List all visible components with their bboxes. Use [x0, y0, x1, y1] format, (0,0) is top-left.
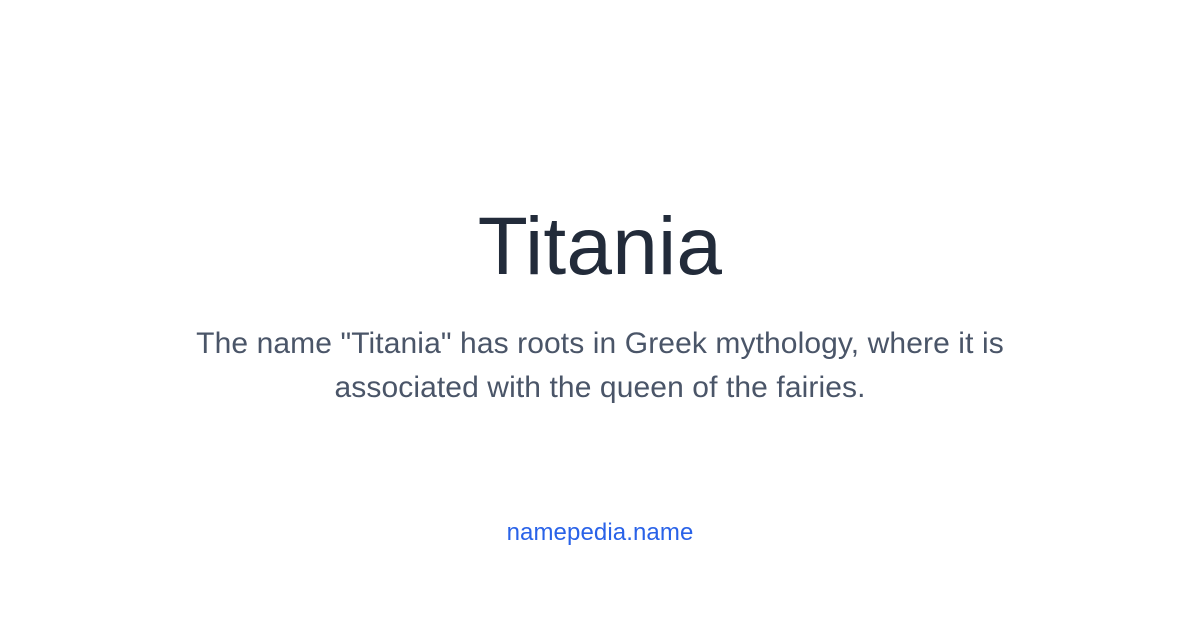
site-link[interactable]: namepedia.name [507, 518, 694, 548]
name-description: The name "Titania" has roots in Greek my… [80, 322, 1120, 410]
name-preview-card: Titania The name "Titania" has roots in … [0, 0, 1200, 630]
card-footer: namepedia.name [0, 518, 1200, 548]
page-title: Titania [478, 206, 722, 288]
card-content: Titania The name "Titania" has roots in … [0, 206, 1200, 410]
